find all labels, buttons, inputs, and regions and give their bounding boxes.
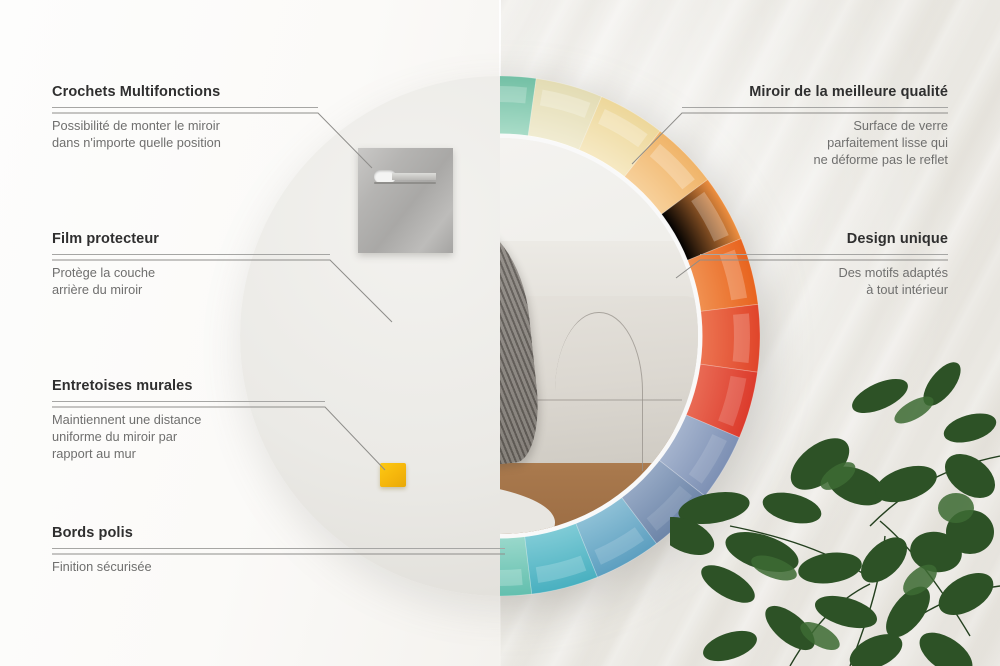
feature-body: Maintiennent une distance uniforme du mi… — [52, 411, 325, 462]
feature-rule — [682, 107, 948, 108]
feature-label-wall-spacers: Entretoises murales Maintiennent une dis… — [52, 378, 325, 462]
feature-body: Surface de verre parfaitement lisse qui … — [682, 117, 948, 168]
feature-rule — [700, 254, 948, 255]
feature-title: Crochets Multifonctions — [52, 84, 318, 100]
feature-label-best-quality-mirror: Miroir de la meilleure qualité Surface d… — [682, 84, 948, 168]
feature-title: Bords polis — [52, 525, 505, 541]
feature-title: Miroir de la meilleure qualité — [682, 84, 948, 100]
feature-label-multifunction-hooks: Crochets Multifonctions Possibilité de m… — [52, 84, 318, 151]
feature-title: Entretoises murales — [52, 378, 325, 394]
feature-label-unique-design: Design unique Des motifs adaptés à tout … — [700, 231, 948, 298]
feature-label-polished-edges: Bords polis Finition sécurisée — [52, 525, 505, 575]
feature-body: Protège la couche arrière du miroir — [52, 264, 330, 298]
feature-rule — [52, 107, 318, 108]
feature-rule — [52, 548, 505, 549]
feature-title: Design unique — [700, 231, 948, 247]
feature-rule — [52, 401, 325, 402]
infographic-stage: Crochets Multifonctions Possibilité de m… — [0, 0, 1000, 666]
feature-title: Film protecteur — [52, 231, 330, 247]
feature-body: Possibilité de monter le miroir dans n'i… — [52, 117, 318, 151]
feature-body: Des motifs adaptés à tout intérieur — [700, 264, 948, 298]
feature-label-protective-film: Film protecteur Protège la couche arrièr… — [52, 231, 330, 298]
feature-body: Finition sécurisée — [52, 558, 505, 575]
feature-rule — [52, 254, 330, 255]
